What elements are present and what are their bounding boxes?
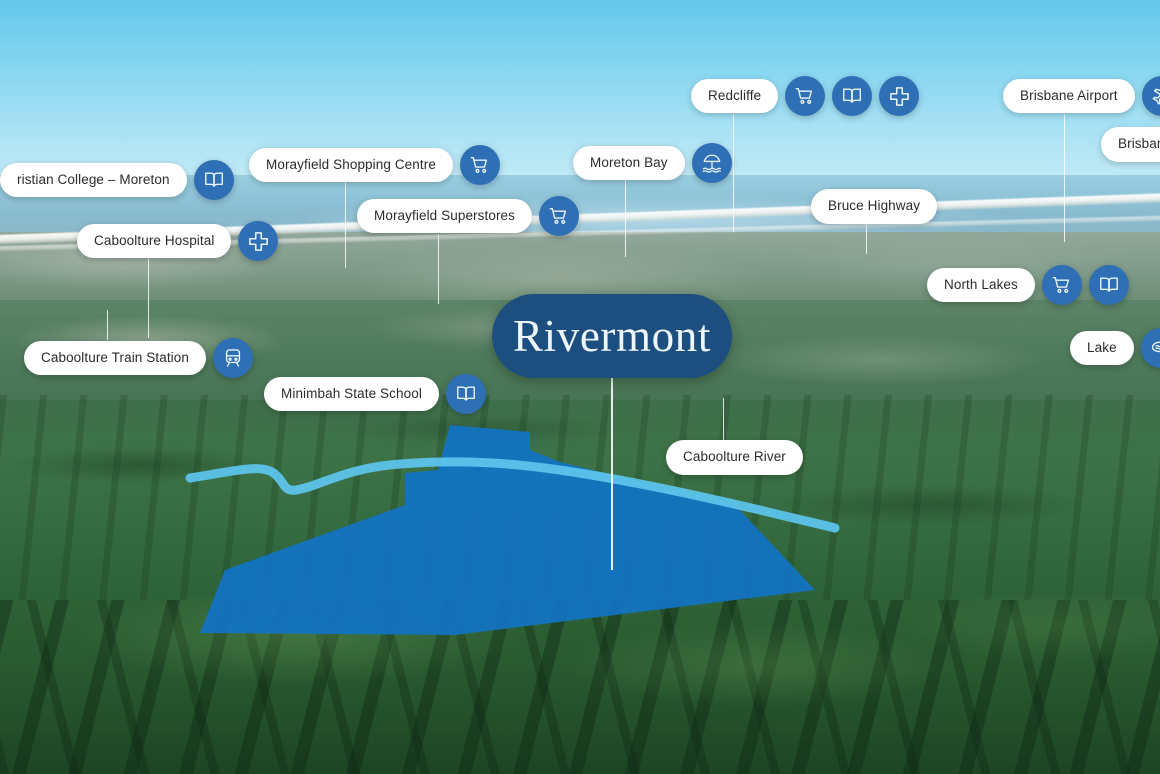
marker-label-minimbah-state-school[interactable]: Minimbah State School <box>264 377 439 412</box>
hospital-cross-icon[interactable] <box>238 221 278 261</box>
aerial-photo-background <box>0 0 1160 774</box>
rivermont-leader-line <box>611 378 613 570</box>
map-marker-caboolture-hospital[interactable]: Caboolture Hospital <box>77 221 278 261</box>
marker-icons-north-lakes <box>1042 265 1129 305</box>
rivermont-title-pill: Rivermont <box>492 294 732 378</box>
marker-icons-morayfield-superstores <box>539 196 579 236</box>
marker-label-moreton-bay[interactable]: Moreton Bay <box>573 146 685 181</box>
marker-label-lake[interactable]: Lake <box>1070 331 1134 366</box>
map-marker-lake[interactable]: Lake <box>1070 328 1160 368</box>
location-map: Rivermont ristian College – MoretonMoray… <box>0 0 1160 774</box>
marker-icons-redcliffe <box>785 76 919 116</box>
map-marker-brisbane-airport[interactable]: Brisbane Airport <box>1003 76 1160 116</box>
map-marker-caboolture-river[interactable]: Caboolture River <box>666 440 803 475</box>
shopping-cart-icon[interactable] <box>460 145 500 185</box>
marker-label-north-lakes[interactable]: North Lakes <box>927 268 1035 303</box>
page-title: Rivermont <box>513 314 711 359</box>
marker-label-morayfield-shopping-centre[interactable]: Morayfield Shopping Centre <box>249 148 453 183</box>
marker-label-brisbane-airport[interactable]: Brisbane Airport <box>1003 79 1135 114</box>
shopping-cart-icon[interactable] <box>785 76 825 116</box>
map-marker-redcliffe[interactable]: Redcliffe <box>691 76 919 116</box>
school-book-icon[interactable] <box>194 160 234 200</box>
map-marker-moreton-bay[interactable]: Moreton Bay <box>573 143 732 183</box>
marker-icons-caboolture-hospital <box>238 221 278 261</box>
marker-icons-australian-christian-college-moreton <box>194 160 234 200</box>
shopping-cart-icon[interactable] <box>539 196 579 236</box>
lake-water-icon[interactable] <box>1141 328 1160 368</box>
marker-icons-moreton-bay <box>692 143 732 183</box>
train-icon[interactable] <box>213 338 253 378</box>
marker-label-redcliffe[interactable]: Redcliffe <box>691 79 778 114</box>
map-marker-australian-christian-college-moreton[interactable]: ristian College – Moreton <box>0 160 234 200</box>
map-marker-brisbane-cbd[interactable]: Brisbane <box>1101 127 1160 162</box>
marker-label-australian-christian-college-moreton[interactable]: ristian College – Moreton <box>0 163 187 198</box>
marker-label-caboolture-river[interactable]: Caboolture River <box>666 440 803 475</box>
airplane-icon[interactable] <box>1142 76 1160 116</box>
tree-texture <box>0 395 1160 625</box>
marker-icons-brisbane-airport <box>1142 76 1160 116</box>
hill-highlights <box>0 595 1160 774</box>
hospital-cross-icon[interactable] <box>879 76 919 116</box>
map-marker-bruce-highway[interactable]: Bruce Highway <box>811 189 937 224</box>
marker-label-brisbane-cbd[interactable]: Brisbane <box>1101 127 1160 162</box>
map-marker-morayfield-shopping-centre[interactable]: Morayfield Shopping Centre <box>249 145 500 185</box>
marker-icons-lake <box>1141 328 1160 368</box>
beach-umbrella-icon[interactable] <box>692 143 732 183</box>
marker-label-caboolture-hospital[interactable]: Caboolture Hospital <box>77 224 231 259</box>
marker-label-bruce-highway[interactable]: Bruce Highway <box>811 189 937 224</box>
shopping-cart-icon[interactable] <box>1042 265 1082 305</box>
marker-icons-minimbah-state-school <box>446 374 486 414</box>
school-book-icon[interactable] <box>446 374 486 414</box>
marker-icons-morayfield-shopping-centre <box>460 145 500 185</box>
map-marker-morayfield-superstores[interactable]: Morayfield Superstores <box>357 196 579 236</box>
map-marker-north-lakes[interactable]: North Lakes <box>927 265 1129 305</box>
map-marker-minimbah-state-school[interactable]: Minimbah State School <box>264 374 486 414</box>
school-book-icon[interactable] <box>1089 265 1129 305</box>
marker-icons-caboolture-train-station <box>213 338 253 378</box>
school-book-icon[interactable] <box>832 76 872 116</box>
marker-label-caboolture-train-station[interactable]: Caboolture Train Station <box>24 341 206 376</box>
marker-label-morayfield-superstores[interactable]: Morayfield Superstores <box>357 199 532 234</box>
map-marker-caboolture-train-station[interactable]: Caboolture Train Station <box>24 338 253 378</box>
